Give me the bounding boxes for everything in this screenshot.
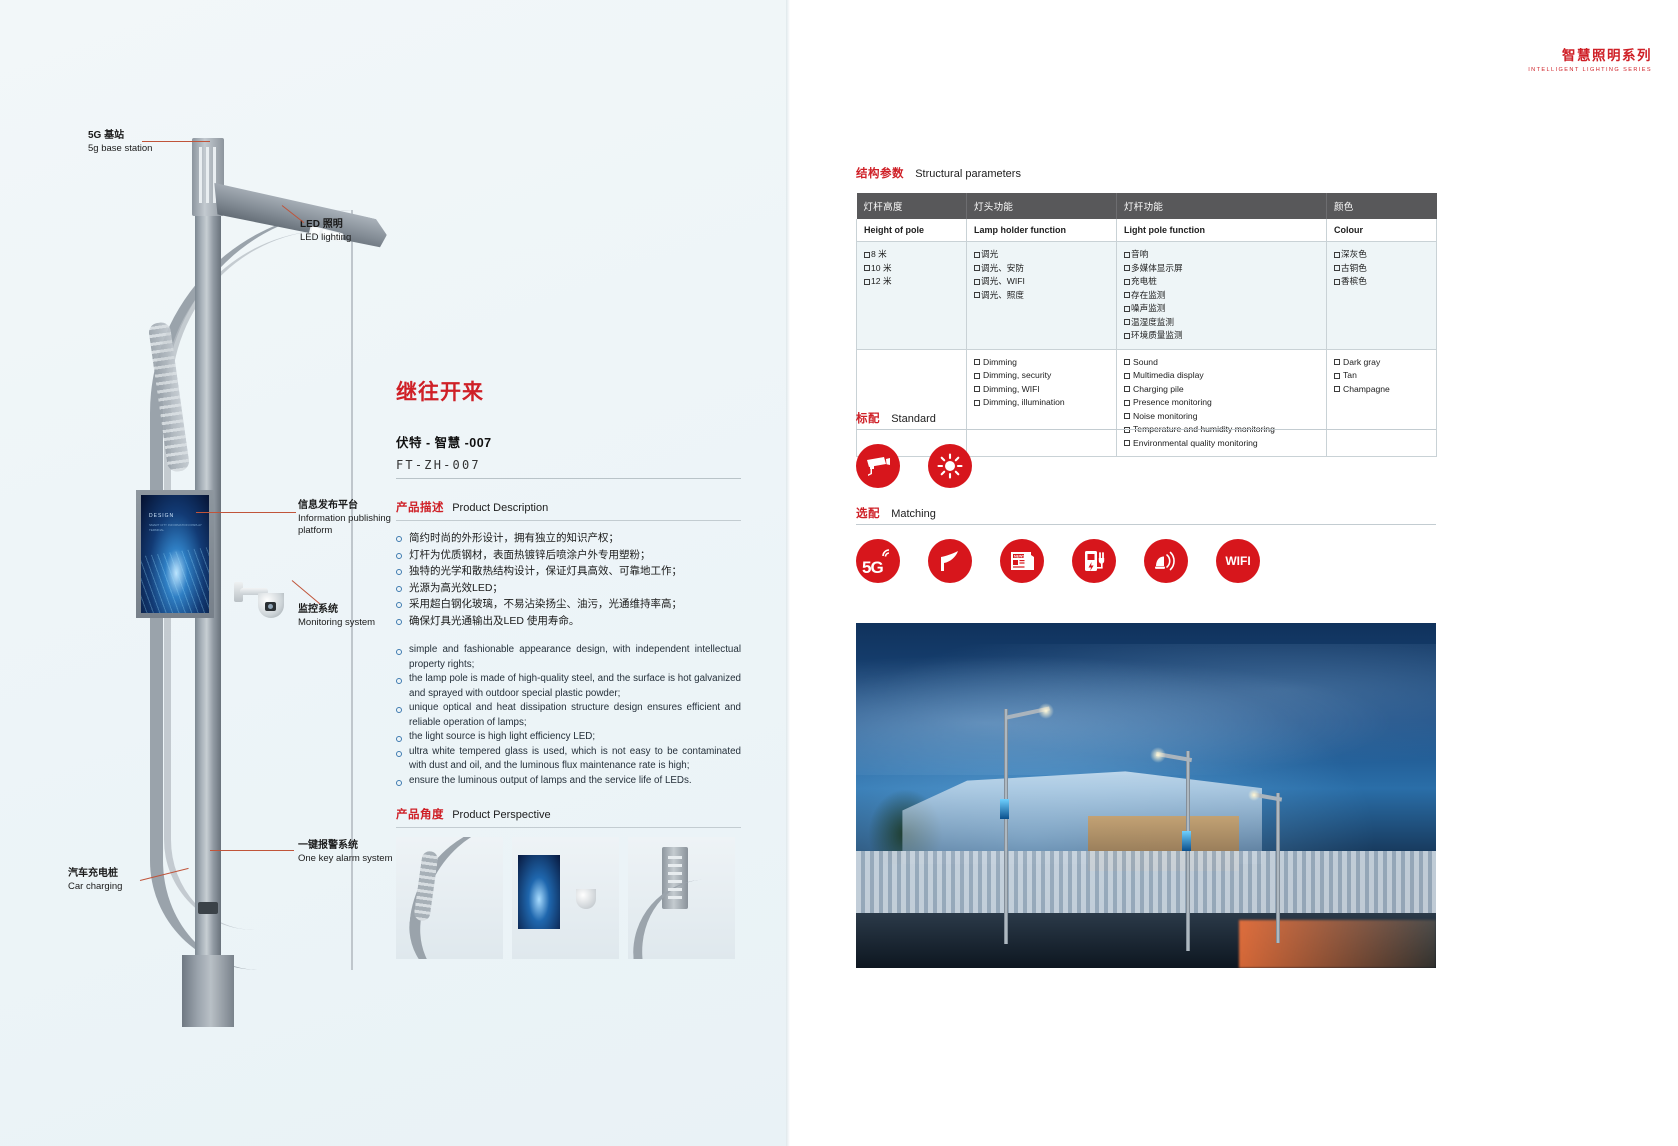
checkbox-option[interactable]: 噪声监测	[1124, 302, 1319, 316]
checkbox-option[interactable]: Multimedia display	[1124, 369, 1319, 383]
checkbox-icon[interactable]	[864, 279, 870, 285]
checkbox-icon[interactable]	[1124, 333, 1130, 339]
news-display-icon[interactable]: NEWS	[1000, 539, 1044, 583]
photo-light-glow-3	[1248, 789, 1260, 801]
alarm-button-module	[198, 902, 218, 914]
sun-lighting-icon[interactable]	[928, 444, 972, 488]
checkbox-icon[interactable]	[1334, 386, 1340, 392]
matching-icon-row: 5G NEWS	[856, 539, 1436, 583]
cell-lightpole-options-cn: 音响 多媒体显示屏 充电桩 存在监测 噪声监测 温湿度监测 环境质量监测	[1117, 242, 1327, 350]
ptz-camera	[240, 582, 280, 626]
photo-display-2	[1182, 831, 1191, 851]
checkbox-icon[interactable]	[864, 265, 870, 271]
divider	[396, 827, 741, 828]
product-perspective-heading: 产品角度 Product Perspective	[396, 806, 741, 822]
product-perspective-section: 产品角度 Product Perspective	[396, 806, 741, 959]
checkbox-option[interactable]: 古铜色	[1334, 262, 1429, 276]
photo-pole-3	[1276, 793, 1280, 943]
checkbox-option[interactable]: 调光	[974, 248, 1109, 262]
leader-line-platform	[196, 512, 296, 513]
5g-label: 5G	[862, 559, 883, 576]
list-item: 确保灯具光通输出及LED 使用寿命。	[396, 613, 741, 630]
checkbox-option[interactable]: 10 米	[864, 262, 959, 276]
checkbox-option[interactable]: Dimming, illumination	[974, 396, 1109, 410]
checkbox-option[interactable]: 调光、照度	[974, 289, 1109, 303]
matching-section: 选配 Matching 5G	[856, 505, 1436, 583]
checkbox-icon[interactable]	[1334, 359, 1340, 365]
photo-light-glow-1	[1038, 703, 1054, 719]
photo-display-1	[1000, 799, 1009, 819]
checkbox-option[interactable]: 调光、安防	[974, 262, 1109, 276]
list-item: unique optical and heat dissipation stru…	[396, 701, 741, 730]
charging-pile-icon[interactable]	[1072, 539, 1116, 583]
checkbox-icon[interactable]	[974, 386, 980, 392]
checkbox-icon[interactable]	[1334, 265, 1340, 271]
column-header-colour-cn: 颜色	[1327, 193, 1437, 219]
wifi-label: WIFI	[1225, 554, 1250, 568]
5g-icon[interactable]: 5G	[856, 539, 900, 583]
checkbox-option[interactable]: 温湿度监测	[1124, 316, 1319, 330]
leader-line-5g	[142, 141, 210, 142]
checkbox-icon[interactable]	[974, 373, 980, 379]
brand-title-en: INTELLIGENT LIGHTING SERIES	[1528, 67, 1652, 73]
checkbox-icon[interactable]	[1124, 252, 1130, 258]
list-item: the lamp pole is made of high-quality st…	[396, 672, 741, 701]
standard-icon-row	[856, 444, 1436, 488]
checkbox-option[interactable]: Champagne	[1334, 383, 1429, 397]
structural-parameters-heading: 结构参数 Structural parameters	[856, 165, 1436, 181]
checkbox-option[interactable]: 存在监测	[1124, 289, 1319, 303]
checkbox-option[interactable]: Dimming, security	[974, 369, 1109, 383]
column-header-height-cn: 灯杆高度	[857, 193, 967, 219]
standard-heading: 标配 Standard	[856, 410, 1436, 426]
description-bullets-en: simple and fashionable appearance design…	[396, 643, 741, 788]
table-header-row-cn: 灯杆高度 灯头功能 灯杆功能 颜色	[857, 193, 1437, 219]
checkbox-icon[interactable]	[1334, 252, 1340, 258]
perspective-thumb-1[interactable]	[396, 837, 503, 959]
checkbox-icon[interactable]	[1334, 373, 1340, 379]
checkbox-icon[interactable]	[974, 292, 980, 298]
information-display-panel: DESIGN SMART CITY INFORMATION DISPLAY TE…	[136, 490, 214, 618]
callout-information-platform: 信息发布平台 Information publishing platform	[298, 500, 393, 538]
checkbox-icon[interactable]	[1124, 279, 1130, 285]
callout-one-key-alarm: 一键报警系统 One key alarm system	[298, 840, 393, 865]
checkbox-icon[interactable]	[1124, 319, 1130, 325]
list-item: the light source is high light efficienc…	[396, 730, 741, 745]
list-item: 独特的光学和散热结构设计，保证灯具高效、可靠地工作；	[396, 563, 741, 580]
wifi-icon[interactable]: WIFI	[1216, 539, 1260, 583]
checkbox-icon[interactable]	[974, 279, 980, 285]
list-item: 采用超白钢化玻璃，不易沾染扬尘、油污，光通维持率高；	[396, 596, 741, 613]
table-row-options-cn: 8 米 10 米 12 米 调光 调光、安防 调光、WIFI 调光、照度 音响	[857, 242, 1437, 350]
checkbox-option[interactable]: 8 米	[864, 248, 959, 262]
callout-led-lighting: LED 照明 LED lighting	[300, 219, 351, 244]
callout-monitoring-system: 监控系统 Monitoring system	[298, 604, 375, 629]
product-description-heading: 产品描述 Product Description	[396, 499, 741, 515]
checkbox-option[interactable]: 香槟色	[1334, 275, 1429, 289]
checkbox-option[interactable]: Tan	[1334, 369, 1429, 383]
cctv-camera-icon[interactable]	[856, 444, 900, 488]
series-brand: 智慧照明系列 INTELLIGENT LIGHTING SERIES	[1528, 44, 1652, 73]
callout-5g-base-station: 5G 基站 5g base station	[88, 130, 152, 155]
checkbox-icon[interactable]	[974, 252, 980, 258]
cell-colour-options-cn: 深灰色 古铜色 香槟色	[1327, 242, 1437, 350]
description-bullets-cn: 简约时尚的外形设计，拥有独立的知识产权； 灯杆为优质钢材，表面热镀锌后喷涂户外专…	[396, 530, 741, 629]
checkbox-icon[interactable]	[974, 265, 980, 271]
checkbox-icon[interactable]	[974, 359, 980, 365]
divider	[856, 429, 1436, 430]
checkbox-icon[interactable]	[1124, 359, 1130, 365]
checkbox-option[interactable]: Charging pile	[1124, 383, 1319, 397]
photo-pole-2	[1186, 751, 1190, 951]
checkbox-option[interactable]: Dark gray	[1334, 356, 1429, 370]
cell-height-options-cn: 8 米 10 米 12 米	[857, 242, 967, 350]
checkbox-option[interactable]: Sound	[1124, 356, 1319, 370]
checkbox-icon[interactable]	[1124, 292, 1130, 298]
display-sub-text: SMART CITY INFORMATION DISPLAY TERMINAL	[149, 523, 205, 533]
divider	[856, 524, 1436, 525]
perspective-thumbnails	[396, 837, 741, 959]
checkbox-option[interactable]: 多媒体显示屏	[1124, 262, 1319, 276]
left-page: DESIGN SMART CITY INFORMATION DISPLAY TE…	[0, 0, 790, 1146]
column-header-height-en: Height of pole	[857, 219, 967, 242]
standard-section: 标配 Standard	[856, 410, 1436, 488]
list-item: 光源为高光效LED；	[396, 580, 741, 597]
cell-lampholder-options-cn: 调光 调光、安防 调光、WIFI 调光、照度	[967, 242, 1117, 350]
column-header-colour-en: Colour	[1327, 219, 1437, 242]
list-item: 灯杆为优质钢材，表面热镀锌后喷涂户外专用塑粉；	[396, 547, 741, 564]
checkbox-icon[interactable]	[1124, 306, 1130, 312]
product-headline: 继往开来	[396, 376, 741, 406]
product-text-column: 继往开来 伏特 - 智慧 -007 FT-ZH-007 产品描述 Product…	[396, 376, 741, 959]
list-item: ultra white tempered glass is used, whic…	[396, 745, 741, 774]
divider	[396, 478, 741, 479]
checkbox-option[interactable]: 12 米	[864, 275, 959, 289]
checkbox-option[interactable]: 调光、WIFI	[974, 275, 1109, 289]
checkbox-option[interactable]: 充电桩	[1124, 275, 1319, 289]
checkbox-option[interactable]: Presence monitoring	[1124, 396, 1319, 410]
list-item: simple and fashionable appearance design…	[396, 643, 741, 672]
leader-line-alarm	[210, 850, 294, 851]
matching-heading: 选配 Matching	[856, 505, 1436, 521]
megaphone-icon[interactable]	[928, 539, 972, 583]
checkbox-icon[interactable]	[1334, 279, 1340, 285]
list-item: 简约时尚的外形设计，拥有独立的知识产权；	[396, 530, 741, 547]
checkbox-option[interactable]: 环境质量监测	[1124, 329, 1319, 343]
pole-base	[182, 955, 234, 1027]
svg-text:NEWS: NEWS	[1014, 554, 1025, 558]
column-header-lightpole-en: Light pole function	[1117, 219, 1327, 242]
product-name-cn: 伏特 - 智慧 -007	[396, 432, 741, 451]
product-model-code: FT-ZH-007	[396, 458, 741, 472]
column-header-lampholder-cn: 灯头功能	[967, 193, 1117, 219]
perspective-thumb-2[interactable]	[512, 837, 619, 959]
checkbox-icon[interactable]	[1124, 386, 1130, 392]
perspective-thumb-3[interactable]	[628, 837, 735, 959]
checkbox-icon[interactable]	[1124, 265, 1130, 271]
checkbox-icon[interactable]	[1124, 400, 1130, 406]
display-brand-text: DESIGN	[149, 513, 174, 519]
divider	[396, 520, 741, 521]
checkbox-option[interactable]: 音响	[1124, 248, 1319, 262]
list-item: ensure the luminous output of lamps and …	[396, 774, 741, 789]
photo-light-glow-2	[1150, 747, 1166, 763]
checkbox-option[interactable]: Dimming, WIFI	[974, 383, 1109, 397]
checkbox-icon[interactable]	[974, 400, 980, 406]
checkbox-icon[interactable]	[1124, 373, 1130, 379]
catalog-spread: DESIGN SMART CITY INFORMATION DISPLAY TE…	[0, 0, 1678, 1146]
checkbox-option[interactable]: 深灰色	[1334, 248, 1429, 262]
column-header-lightpole-cn: 灯杆功能	[1117, 193, 1327, 219]
right-page: 智慧照明系列 INTELLIGENT LIGHTING SERIES 结构参数 …	[790, 0, 1678, 1146]
checkbox-option[interactable]: Dimming	[974, 356, 1109, 370]
checkbox-icon[interactable]	[864, 252, 870, 258]
application-photo	[856, 623, 1436, 968]
column-header-lampholder-en: Lamp holder function	[967, 219, 1117, 242]
alarm-siren-icon[interactable]	[1144, 539, 1188, 583]
callout-car-charging: 汽车充电桩 Car charging	[68, 868, 122, 893]
brand-title-cn: 智慧照明系列	[1528, 44, 1652, 64]
table-header-row-en: Height of pole Lamp holder function Ligh…	[857, 219, 1437, 242]
photo-pole-1	[1004, 709, 1008, 944]
